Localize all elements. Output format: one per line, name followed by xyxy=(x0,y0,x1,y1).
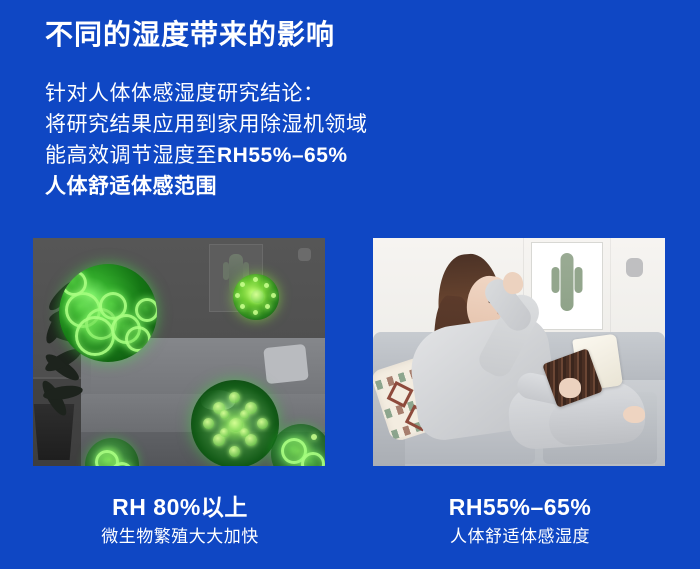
caption-title-right: RH55%–65% xyxy=(370,492,670,522)
bright-room-scene xyxy=(373,238,665,466)
humidity-range-highlight: RH55%–65% xyxy=(217,144,348,167)
caption-comfort-humidity: RH55%–65% 人体舒适体感湿度 xyxy=(370,492,670,550)
microbe-sphere-small-top xyxy=(233,274,279,320)
intro-text-block: 针对人体体感湿度研究结论： 将研究结果应用到家用除湿机领域 能高效调节湿度至RH… xyxy=(45,78,368,202)
hand-holding-book xyxy=(559,378,581,398)
wall-speaker-icon xyxy=(298,248,311,261)
caption-sub-left: 微生物繁殖大大加快 xyxy=(30,524,330,550)
plant-pot xyxy=(33,404,77,460)
caption-sub-right: 人体舒适体感湿度 xyxy=(370,524,670,550)
photo-high-humidity xyxy=(33,238,325,466)
comparison-photo-row xyxy=(0,238,700,466)
photo-comfort-humidity-canvas xyxy=(373,238,665,466)
caption-title-left: RH 80%以上 xyxy=(30,492,330,522)
intro-line-3-normal: 能高效调节湿度至 xyxy=(45,144,217,167)
humidity-poster: 不同的湿度带来的影响 针对人体体感湿度研究结论： 将研究结果应用到家用除湿机领域… xyxy=(0,0,700,569)
intro-line-2: 将研究结果应用到家用除湿机领域 xyxy=(45,109,368,140)
microbe-sphere-large xyxy=(59,264,157,362)
photo-high-humidity-canvas xyxy=(33,238,325,466)
caption-row: RH 80%以上 微生物繁殖大大加快 RH55%–65% 人体舒适体感湿度 xyxy=(0,492,700,569)
intro-line-4: 人体舒适体感范围 xyxy=(45,171,368,202)
intro-line-1: 针对人体体感湿度研究结论： xyxy=(45,78,368,109)
page-title: 不同的湿度带来的影响 xyxy=(45,18,335,52)
sofa-cushion xyxy=(263,344,309,384)
microbe-sphere-bottom xyxy=(191,380,279,466)
photo-comfort-humidity xyxy=(373,238,665,466)
caption-high-humidity: RH 80%以上 微生物繁殖大大加快 xyxy=(30,492,330,550)
foot xyxy=(623,406,645,423)
woman-reading-figure xyxy=(399,248,639,462)
intro-line-3: 能高效调节湿度至RH55%–65% xyxy=(45,140,368,171)
